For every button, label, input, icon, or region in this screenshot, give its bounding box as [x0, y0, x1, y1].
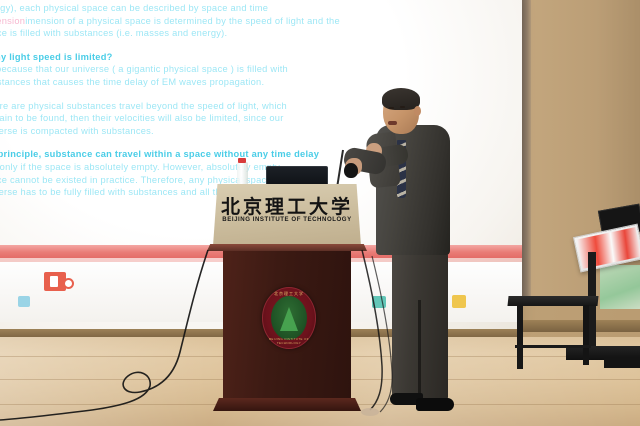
- floor-cable: [0, 0, 640, 426]
- lecture-hall-photo: nergy), each physical space can be descr…: [0, 0, 640, 426]
